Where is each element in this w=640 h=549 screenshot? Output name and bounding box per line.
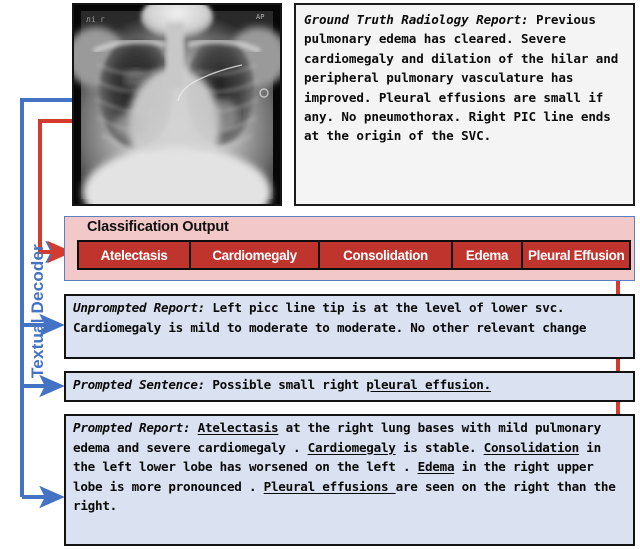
prompted-report-seg2: is stable.	[396, 440, 484, 455]
chest-xray-image: лі г AP	[72, 3, 282, 206]
textual-decoder-label: Textual Decoder	[27, 231, 49, 391]
ground-truth-report-box: Ground Truth Radiology Report: Previous …	[294, 3, 635, 206]
unprompted-report-box: Unprompted Report: Left picc line tip is…	[64, 294, 635, 359]
prompted-report-space	[190, 420, 197, 435]
prompted-report-highlight-cardiomegaly: Cardiomegaly	[308, 440, 396, 455]
prompted-sentence-box: Prompted Sentence: Possible small right …	[64, 371, 635, 402]
prompted-report-label: Prompted Report:	[73, 420, 190, 435]
xray-corner-marker-left: лі г	[86, 15, 105, 24]
chest-xray-render: лі г AP	[74, 5, 280, 204]
class-badge-cardiomegaly[interactable]: Cardiomegaly	[189, 240, 320, 270]
prompted-report-highlight-edema: Edema	[418, 459, 455, 474]
class-badge-pleural-effusion[interactable]: Pleural Effusion	[521, 240, 631, 270]
xray-corner-marker-right: AP	[256, 13, 264, 21]
prompted-sentence-label: Prompted Sentence:	[73, 377, 205, 392]
ground-truth-label: Ground Truth Radiology Report:	[304, 12, 528, 27]
prompted-report-highlight-pleural-effusions: Pleural effusions	[264, 479, 396, 494]
prompted-report-highlight-consolidation: Consolidation	[484, 440, 579, 455]
class-badge-atelectasis[interactable]: Atelectasis	[77, 240, 191, 270]
prompted-sentence-text: Possible small right	[205, 377, 366, 392]
ground-truth-text: Previous pulmonary edema has cleared. Se…	[304, 12, 618, 143]
classification-output-panel: Classification Output Atelectasis Cardio…	[64, 216, 635, 281]
class-badge-edema[interactable]: Edema	[451, 240, 523, 270]
prompted-report-highlight-atelectasis: Atelectasis	[198, 420, 279, 435]
classification-output-title: Classification Output	[87, 219, 229, 235]
classification-badge-row: Atelectasis Cardiomegaly Consolidation E…	[77, 240, 622, 270]
class-badge-consolidation[interactable]: Consolidation	[318, 240, 453, 270]
model-architecture-figure: Textual Decoder	[0, 0, 640, 549]
prompted-sentence-highlight: pleural effusion.	[366, 377, 491, 392]
unprompted-report-label: Unprompted Report:	[73, 300, 205, 315]
prompted-report-box: Prompted Report: Atelectasis at the righ…	[64, 414, 635, 546]
